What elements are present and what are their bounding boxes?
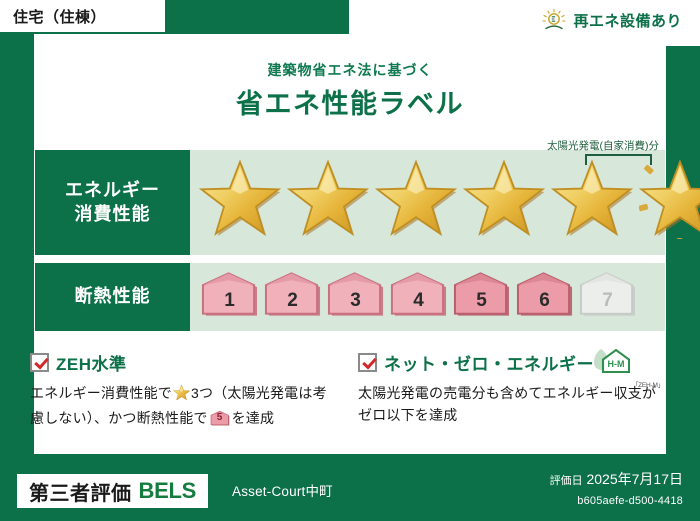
sun-icon	[541, 8, 567, 34]
net-zero-energy-note: ネット・ゼロ・エネルギー H-M 「ZEH-M」 太陽光発電の売電分も含めてエネ…	[358, 350, 668, 426]
insulation-level-number: 4	[413, 290, 424, 319]
insulation-level-item: 3	[326, 271, 385, 319]
star-rating-item	[462, 156, 546, 240]
bels-badge: 第三者評価 BELS	[17, 474, 208, 508]
star-rating-item	[374, 156, 458, 240]
nze-note-header: ネット・ゼロ・エネルギー H-M 「ZEH-M」	[358, 350, 668, 375]
star-icon	[639, 157, 700, 239]
zeh-standard-note: ZEH水準 エネルギー消費性能で3つ（太陽光発電は考慮しない）、かつ断熱性能で5…	[30, 350, 330, 429]
evaluation-date-label: 評価日	[550, 475, 583, 487]
solar-caption: 太陽光発電(自家消費)分	[547, 138, 659, 153]
building-type-tag: 住宅（住棟）	[0, 0, 165, 32]
star-icon	[287, 157, 369, 239]
insulation-level-item: 7	[578, 271, 637, 319]
insulation-level-number: 2	[287, 290, 298, 319]
energy-rating-area: 太陽光発電(自家消費)分	[190, 150, 665, 255]
insulation-level-number: 5	[476, 290, 487, 319]
zeh-m-house-icon: H-M	[590, 346, 646, 380]
house-5-icon-label: 5	[210, 410, 230, 427]
insulation-level-number: 3	[350, 290, 361, 319]
renewable-badge-label: 再エネ設備あり	[573, 10, 682, 31]
energy-label-line1: エネルギー	[65, 179, 160, 202]
evaluation-date: 評価日 2025年7月17日	[550, 469, 683, 489]
building-name: Asset-Court中町	[232, 480, 333, 500]
bels-jp-label: 第三者評価	[29, 477, 132, 506]
insulation-performance-row: 断熱性能 1234567	[35, 263, 665, 331]
bels-en-label: BELS	[139, 478, 196, 504]
evaluation-date-value: 2025年7月17日	[586, 471, 683, 487]
zeh-m-logo-caption: 「ZEH-M」	[632, 379, 664, 389]
insulation-level-number: 7	[602, 290, 613, 319]
star-rating-item	[550, 156, 634, 240]
label-subtitle: 建築物省エネ法に基づく	[0, 60, 700, 80]
insulation-level-number: 6	[539, 290, 550, 319]
energy-label-card: 住宅（住棟） 再エネ設備あり 建築物省エネ法に基づく 省エネ性能ラベル エネルギ…	[0, 0, 700, 521]
house-5-icon-inline: 5	[210, 410, 230, 427]
star-rating-item	[286, 156, 370, 240]
insulation-level-item: 6	[515, 271, 574, 319]
star-rating-item	[638, 156, 700, 240]
insulation-rating-area: 1234567	[190, 263, 665, 331]
building-type-label: 住宅（住棟）	[13, 6, 106, 27]
zeh-note-title: ZEH水準	[56, 350, 127, 375]
zeh-note-header: ZEH水準	[30, 350, 330, 375]
star-icon	[375, 157, 457, 239]
energy-performance-label: エネルギー 消費性能	[35, 150, 190, 255]
renewable-equipment-badge: 再エネ設備あり	[535, 4, 692, 37]
star-icon	[199, 157, 281, 239]
star-icon-inline	[173, 384, 190, 408]
energy-label-line2: 消費性能	[75, 203, 151, 226]
star-icon	[463, 157, 545, 239]
check-icon-nze	[358, 353, 377, 372]
check-icon-zeh	[30, 353, 49, 372]
insulation-level-group: 1234567	[200, 271, 637, 319]
nze-note-title: ネット・ゼロ・エネルギー	[384, 350, 594, 375]
insulation-label-text: 断熱性能	[75, 285, 151, 308]
insulation-level-item: 4	[389, 271, 448, 319]
insulation-level-number: 1	[224, 290, 235, 319]
evaluation-id: b605aefe-d500-4418	[577, 495, 683, 507]
insulation-level-item: 1	[200, 271, 259, 319]
star-rating-item	[198, 156, 282, 240]
insulation-performance-label: 断熱性能	[35, 263, 190, 331]
insulation-level-item: 5	[452, 271, 511, 319]
star-rating-group	[198, 156, 700, 240]
zeh-note-body: エネルギー消費性能で3つ（太陽光発電は考慮しない）、かつ断熱性能で5を達成	[30, 383, 330, 429]
star-icon	[551, 157, 633, 239]
label-title: 省エネ性能ラベル	[0, 82, 700, 121]
insulation-level-item: 2	[263, 271, 322, 319]
zeh-body-part3: を達成	[232, 410, 275, 426]
zeh-m-logo-text: H-M	[608, 359, 625, 369]
star-icon	[173, 384, 190, 401]
nze-note-body: 太陽光発電の売電分も含めてエネルギー収支がゼロ以下を達成	[358, 383, 668, 426]
zeh-body-part1: エネルギー消費性能で	[30, 385, 172, 401]
zeh-m-logo: H-M 「ZEH-M」	[590, 346, 664, 388]
energy-performance-row: エネルギー 消費性能 太陽光発電(自家消費)分	[35, 150, 665, 255]
